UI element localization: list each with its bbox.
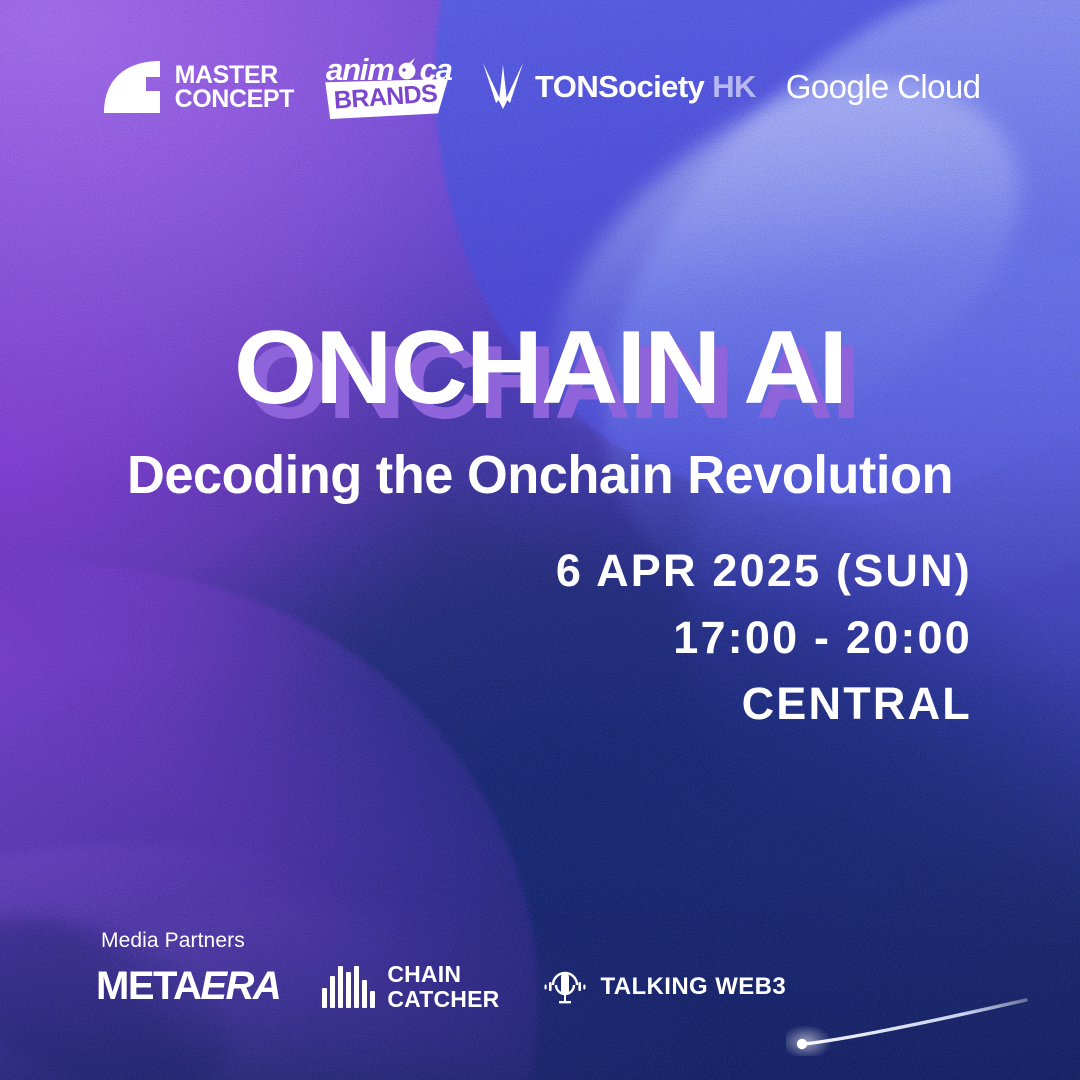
sponsor-animoca-brands[interactable]: anim ca BRANDS — [324, 54, 450, 120]
event-date: 6 APR 2025 (SUN) — [556, 538, 972, 605]
animoca-brands-banner: BRANDS — [324, 79, 448, 119]
chaincatcher-bars-icon — [322, 966, 375, 1008]
page-title: ONCHAIN AI — [0, 316, 1080, 420]
media-partner-metaera[interactable]: METAERA — [96, 964, 280, 1009]
sponsor-ton-society[interactable]: TONSociety HK — [480, 59, 756, 115]
master-concept-line1: MASTER — [175, 63, 294, 88]
metaera-text-a: META — [96, 964, 200, 1009]
chaincatcher-line2: CATCHER — [387, 987, 499, 1012]
talkingweb3-wordmark: TALKING WEB3 — [600, 973, 786, 1001]
animoca-brands-text: BRANDS — [333, 79, 438, 115]
master-concept-wordmark: MASTER CONCEPT — [175, 63, 294, 112]
society-text: Society — [598, 69, 704, 104]
ton-society-wordmark: TONSociety HK — [535, 69, 756, 105]
google-cloud-wordmark: Google Cloud — [786, 68, 981, 106]
media-partner-chaincatcher[interactable]: CHAIN CATCHER — [322, 962, 499, 1012]
event-time: 17:00 - 20:00 — [556, 605, 972, 672]
sponsor-google-cloud[interactable]: Google Cloud — [786, 68, 981, 106]
chaincatcher-wordmark: CHAIN CATCHER — [387, 962, 499, 1012]
media-partner-talkingweb3[interactable]: TALKING WEB3 — [541, 965, 786, 1009]
master-concept-sail-icon — [100, 57, 166, 117]
sponsor-logo-bar: MASTER CONCEPT anim ca BRANDS — [0, 54, 1080, 120]
media-partners-label: Media Partners — [101, 929, 245, 953]
headline-block: ONCHAIN AI ONCHAIN AI Decoding the Oncha… — [0, 316, 1080, 506]
event-details: 6 APR 2025 (SUN) 17:00 - 20:00 CENTRAL — [556, 538, 972, 738]
event-location: CENTRAL — [556, 671, 972, 738]
media-partners-row: METAERA CHAIN CATCHER — [96, 962, 786, 1012]
title-wrapper: ONCHAIN AI ONCHAIN AI — [0, 316, 1080, 424]
animoca-unicorn-icon — [395, 58, 419, 82]
chaincatcher-line1: CHAIN — [387, 962, 499, 987]
page-subtitle: Decoding the Onchain Revolution — [16, 444, 1064, 506]
sponsor-master-concept[interactable]: MASTER CONCEPT — [100, 57, 294, 117]
ton-text: TON — [535, 69, 598, 104]
ton-region-hk: HK — [712, 69, 756, 104]
metaera-text-b: ERA — [200, 964, 280, 1009]
master-concept-line2: CONCEPT — [175, 87, 294, 112]
ton-diamond-icon — [480, 59, 526, 115]
event-poster: MASTER CONCEPT anim ca BRANDS — [0, 0, 1080, 1080]
microphone-headphones-icon — [541, 965, 589, 1009]
